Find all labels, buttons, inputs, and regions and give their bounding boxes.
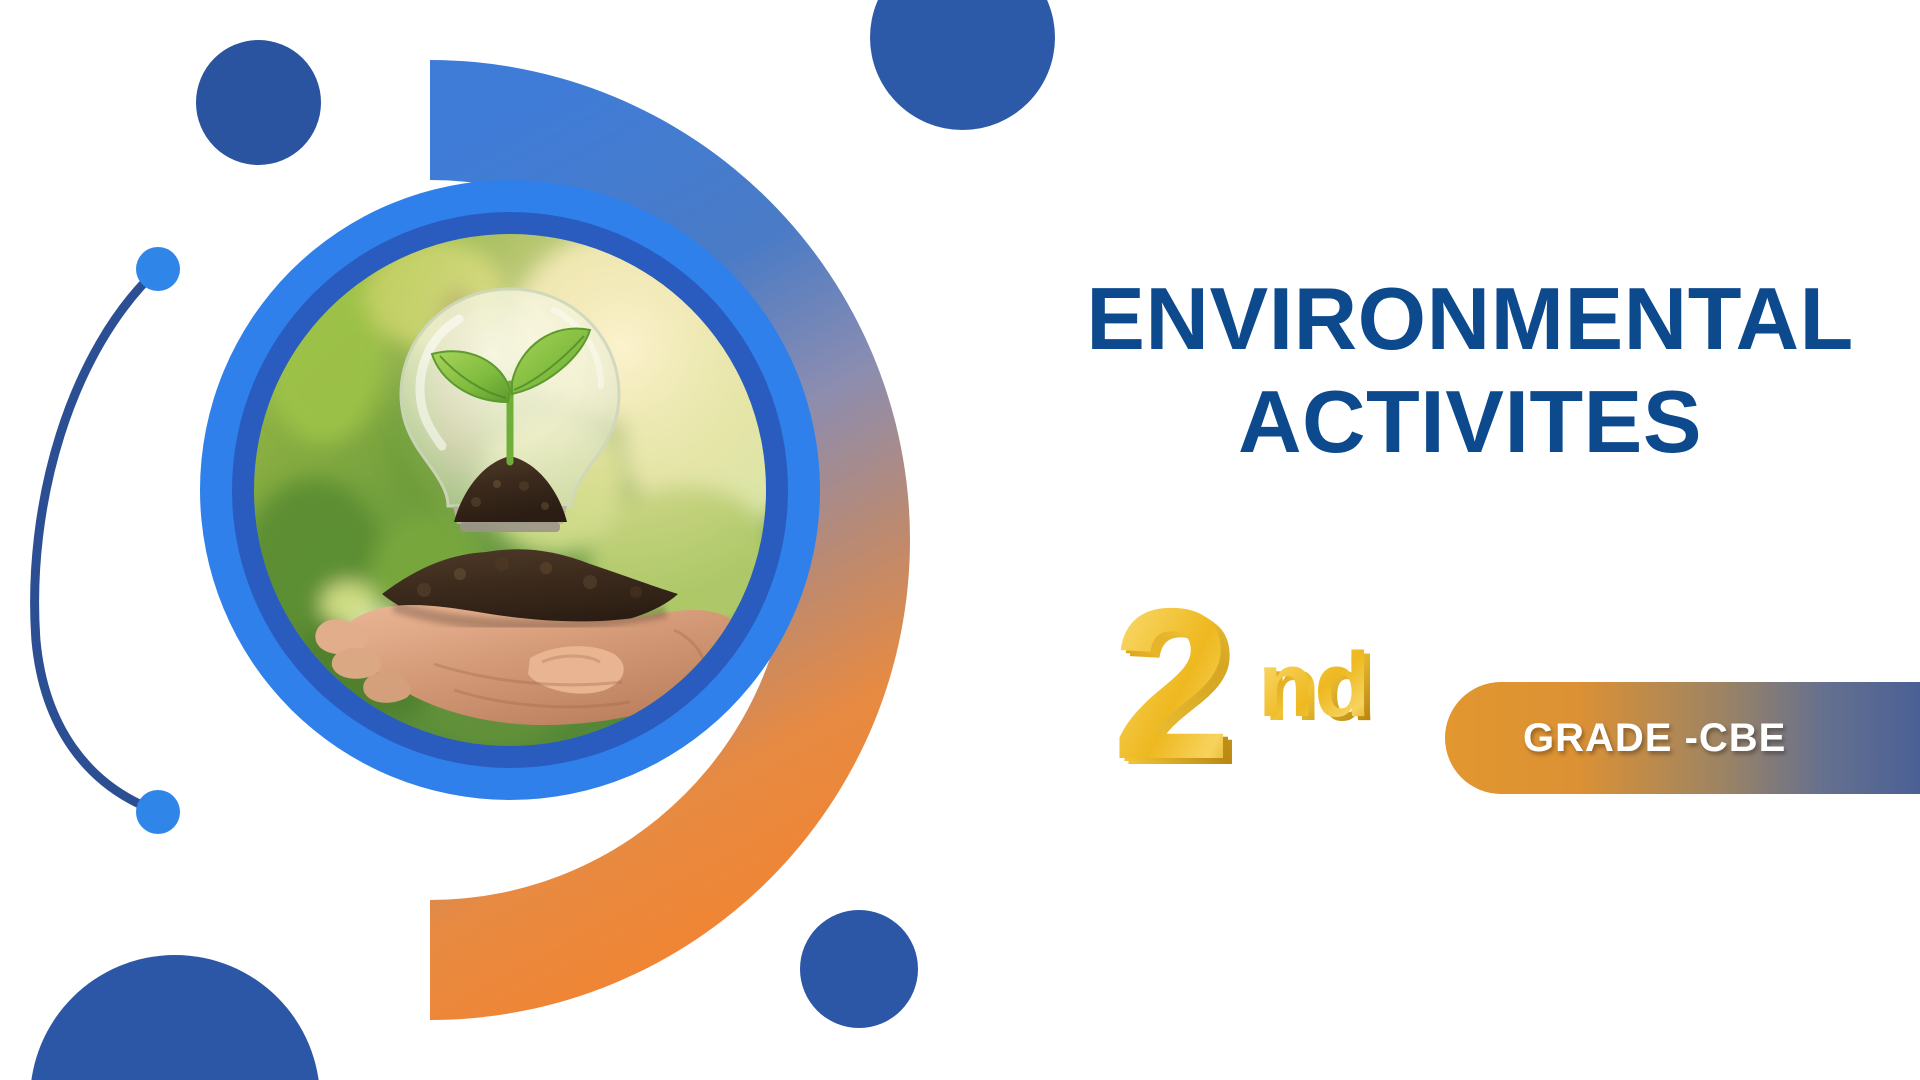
hero-photo	[254, 234, 766, 746]
slide-canvas: ENVIRONMENTAL ACTIVITES 2	[0, 0, 1920, 1080]
photo-ring-outer	[200, 180, 820, 800]
svg-text:nd: nd	[1258, 634, 1370, 736]
svg-text:2: 2	[1112, 570, 1232, 804]
photo-ring-inner	[232, 212, 788, 768]
grade-ordinal-number: 2 2 2 nd nd	[1098, 570, 1398, 810]
page-title: ENVIRONMENTAL ACTIVITES	[1040, 268, 1900, 474]
grade-banner[interactable]: GRADE -CBE	[1445, 682, 1920, 794]
grade-banner-label: GRADE -CBE	[1523, 716, 1786, 761]
title-line-2: ACTIVITES	[1040, 371, 1900, 474]
title-line-1: ENVIRONMENTAL	[1040, 268, 1900, 371]
